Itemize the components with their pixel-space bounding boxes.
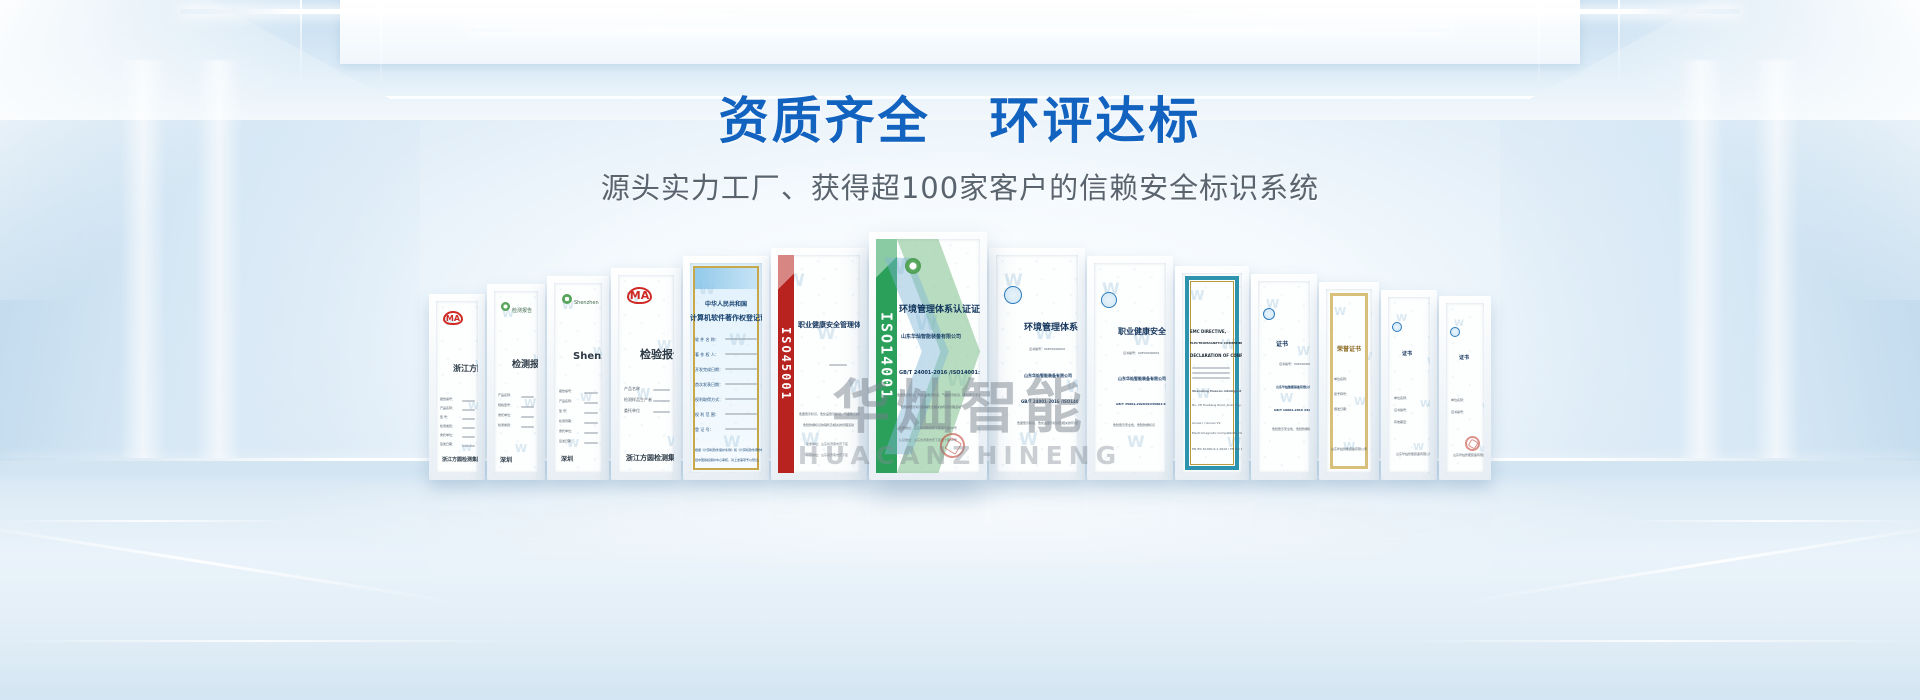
certificate-text-line	[725, 353, 757, 355]
certificate-text: 浙江方圆检测	[453, 363, 478, 374]
certificate-text: Annex I / Annex VII	[1192, 421, 1220, 425]
certificate-text: 职业健康安全管理体系认证证书	[1118, 326, 1166, 337]
certificate-text: 荣誉证书	[1326, 344, 1372, 353]
ceiling-vane	[1538, 0, 1540, 86]
cma-badge-icon: MA	[627, 287, 652, 304]
certificate-text: 单位名称：	[1334, 377, 1349, 381]
certificate-frame[interactable]: WWWWISO14001环境管理体系认证证书山东华灿智能装备有限公司GB/T 2…	[869, 232, 987, 480]
headline-part-2: 环评达标	[989, 92, 1201, 150]
certificate-text-line	[462, 445, 475, 447]
watermark-w-glyph: W	[1164, 381, 1166, 400]
certificate-text: 检测报告	[512, 307, 532, 314]
certificate-text: 危险警示安全色、危险防爆标识	[1113, 423, 1155, 427]
certificate-text-line	[1192, 377, 1230, 379]
certificate-text-line	[462, 418, 475, 420]
headline-part-1: 资质齐全	[719, 92, 931, 150]
certificate-text: 开发完成日期：	[695, 367, 723, 373]
certificate-sheet: WWWW职业健康安全管理体系认证证书证书编号：00EX0000000山东华灿智能…	[1094, 263, 1166, 473]
certificate-text: Shenzhen	[574, 300, 599, 306]
certificate-text: 危废警示标识、危化品警示标识及相关的环境管理活动	[1017, 421, 1078, 425]
certificate-frame[interactable]: WWWW证书单位名称：证书编号：有效期至：山东华灿智能装备有限公司	[1381, 290, 1437, 480]
certificate-text: 山东华灿智能装备有限公司	[1453, 453, 1484, 457]
certificate-text: 型 号：	[440, 415, 450, 419]
certificate-text: 委托单位：	[559, 429, 574, 433]
certificate-text: 产品名称	[624, 386, 640, 392]
certificate-text-line	[725, 368, 757, 370]
certificate-sheet: WWWWISO14001环境管理体系认证证书山东华灿智能装备有限公司GB/T 2…	[876, 239, 980, 473]
certificate-frame[interactable]: WWWWMA浙江方圆检测报告编号：产品名称：型 号：检测类别：委托单位：签发日期…	[429, 294, 485, 480]
watermark-w-glyph: W	[1127, 432, 1145, 451]
ceiling-light-strip-left	[180, 9, 740, 14]
watermark-w-glyph: W	[1280, 391, 1293, 405]
certificate-frame[interactable]: WWWW中华人民共和国计算机软件著作权登记证书软 件 名 称：著 作 权 人：开…	[683, 256, 769, 480]
certificate-text: 危险防爆标识的销售及相关的管理活动	[803, 423, 854, 427]
floor-reflection-streak	[0, 640, 520, 642]
watermark-w-glyph: W	[667, 435, 674, 450]
certificate-text-line	[584, 402, 598, 404]
certificate-text: No. 28 Huabang Road, Jinan City, Shandon…	[1192, 403, 1242, 407]
certificate-text: 登 记 号：	[695, 427, 714, 433]
certificate-text: 委托单位：	[440, 433, 455, 437]
certification-body-logo	[1392, 322, 1402, 332]
certificate-text-line	[521, 416, 534, 418]
watermark-w-glyph: W	[515, 442, 527, 455]
certificate-sheet: WWWW证书证书编号：00EX0000000山东华灿智能装备有限公司GB/T 1…	[1258, 281, 1310, 473]
watermark-w-glyph: W	[848, 377, 860, 397]
certificate-text: 权 利 范 围：	[695, 412, 719, 418]
floor-reflection-streak	[0, 520, 300, 522]
certificate-sheet: WWWW检测报告检测报告产品名称：规格型号：委托单位：检测类别：深圳	[494, 291, 538, 473]
certificate-frame[interactable]: WWWW职业健康安全管理体系认证证书证书编号：00EX0000000山东华灿智能…	[1087, 256, 1173, 480]
certificate-text: ELECTROMAGNETIC COMPATIBILITY DIRECTIVE	[1190, 341, 1242, 345]
ceiling-vane	[380, 0, 382, 86]
ceiling-vane	[300, 0, 302, 86]
watermark-w-glyph: W	[977, 423, 980, 447]
certificate-text: 浙江方圆检测集团股份有限公司	[442, 456, 478, 463]
certificate-text: 证书编号：00EX0000000	[1279, 362, 1310, 366]
certificate-frame[interactable]: WWWWMA检验报告产品名称检测样品生产者委托单位浙江方圆检测集团股份有限公司	[611, 268, 681, 480]
certificate-text: 报告编号：	[440, 397, 455, 401]
headline-block: 资质齐全 环评达标 源头实力工厂、获得超100家客户的信赖安全标识系统	[0, 92, 1920, 207]
certificate-text-line	[584, 442, 598, 444]
certificate-text-line	[653, 411, 670, 413]
certificate-text: 软 件 名 称：	[695, 337, 719, 343]
certificate-text: EMC DIRECTIVE,	[1190, 329, 1226, 334]
lab-badge-icon	[501, 302, 510, 311]
certificate-text: 证书编号：00EX0000000	[1123, 351, 1159, 355]
certificate-side-band: ISO45001	[778, 255, 794, 473]
certificate-text: 检验报告	[640, 346, 674, 362]
certificate-text: 产品名称：	[559, 399, 574, 403]
certificate-text-line	[521, 406, 534, 408]
certificate-text: GB/T 24001-2016 /ISO14001:2015	[1021, 399, 1078, 404]
certificate-sheet: WWWWISO45001职业健康安全管理体系认证证书危废警示标识、危化品警示标识…	[778, 255, 860, 473]
floor-reflection-streak	[1620, 520, 1920, 522]
certificate-text: 单位名称：	[1451, 398, 1466, 402]
certificate-text: GB/T 45001-2020/ISO45001:2018	[1116, 402, 1166, 406]
certificate-frame[interactable]: WWWW荣誉证书单位名称：授予称号：颁发日期：山东华灿智能装备有限公司	[1319, 282, 1379, 480]
certificate-frame[interactable]: WWWWShenzhenShenzhen报告编号：产品名称：型 号：检测周期：委…	[547, 276, 609, 480]
certificate-text: 职业健康安全管理体系认证证书	[798, 320, 860, 330]
watermark-w-glyph: W	[1427, 356, 1430, 367]
certificate-text: 深圳	[561, 454, 573, 463]
watermark-w-glyph: W	[1482, 403, 1484, 413]
watermark-w-glyph: W	[760, 381, 762, 400]
certificate-text-line	[653, 389, 670, 391]
certificate-sheet: WWWW证书单位名称：证书编号：山东华灿智能装备有限公司	[1446, 303, 1484, 473]
certificate-sheet: WWWW环境管理体系认证证书证书编号：00EX0000000山东华灿智能装备有限…	[996, 255, 1078, 473]
certificate-text: 注册地址：山东省济南市历下区经十路88号	[899, 426, 957, 430]
certificate-sheet: WWWWShenzhenShenzhen报告编号：产品名称：型 号：检测周期：委…	[554, 283, 602, 473]
certificate-text: 山东华灿智能装备有限公司	[1396, 452, 1430, 456]
certificate-text: 首次发表日期：	[695, 382, 723, 388]
certificate-text: 证书编号：00EX0000000	[1029, 347, 1065, 351]
certificate-text: 证书	[1459, 354, 1469, 361]
certificate-text-line	[725, 413, 757, 415]
certification-body-logo	[1263, 308, 1275, 320]
certificate-sheet: WWWWEMC DIRECTIVE,ELECTROMAGNETIC COMPAT…	[1182, 273, 1242, 473]
certificate-text: 检测类别：	[440, 424, 455, 428]
certificate-text-line	[462, 400, 475, 402]
certificate-text: 环境管理体系认证证书	[1024, 320, 1078, 333]
certificate-text: Electromagnetic Compatibility Directive …	[1192, 431, 1242, 435]
certification-body-logo	[905, 258, 921, 274]
certificate-text: Shenzhen	[573, 351, 602, 362]
certificate-text: 单位名称：	[1394, 396, 1409, 400]
certificate-text-line	[462, 427, 475, 429]
certificate-text: 签发日期：	[440, 442, 455, 446]
certificate-standard-band-label: ISO45001	[779, 327, 793, 401]
certificate-text: 著 作 权 人：	[695, 352, 719, 358]
certificate-band-highlight	[778, 255, 794, 320]
certificate-text: 险防爆警示标识的销售及相关的环境管理活动	[901, 405, 961, 409]
certificate-text: 危废警示标识、危化品警示标识、气瓶警示标识、危险警示安全色、危	[897, 393, 980, 397]
certificate-text-line	[584, 392, 598, 394]
certificate-text: 签发日期：	[559, 439, 574, 443]
certificate-frame[interactable]: WWWWEMC DIRECTIVE,ELECTROMAGNETIC COMPAT…	[1175, 266, 1249, 480]
certificate-gold-border	[1330, 293, 1368, 469]
certificate-text: 型 号：	[559, 409, 569, 413]
certificate-text: 经中国版权保护中心审核，对上述事项予以登记。	[695, 458, 761, 462]
certificate-text: 检测报告	[512, 357, 538, 370]
certificate-text: 注册地址：山东省济南市历下区	[806, 442, 848, 446]
certificate-sheet: WWWW中华人民共和国计算机软件著作权登记证书软 件 名 称：著 作 权 人：开…	[690, 263, 762, 473]
certificate-standard-band-label: ISO14001	[877, 312, 895, 400]
certificate-text: GB/T 19001-2016 /ISO9001:2015	[1274, 408, 1310, 412]
certificate-text: 山东华灿智能装备有限公司	[1276, 385, 1310, 389]
certificate-band-highlight	[876, 239, 897, 309]
certificate-text: 授予称号：	[1334, 392, 1349, 396]
certificate-sheet: WWWW荣誉证书单位名称：授予称号：颁发日期：山东华灿智能装备有限公司	[1326, 289, 1372, 473]
certificate-text-line	[1192, 367, 1230, 369]
cma-badge-icon: MA	[443, 311, 463, 325]
watermark-w-glyph: W	[1066, 377, 1078, 397]
certification-banner: 资质齐全 环评达标 源头实力工厂、获得超100家客户的信赖安全标识系统 WWWW…	[0, 0, 1920, 700]
certificate-sheet: WWWWMA浙江方圆检测报告编号：产品名称：型 号：检测类别：委托单位：签发日期…	[436, 301, 478, 473]
certificate-sheet: WWWW证书单位名称：证书编号：有效期至：山东华灿智能装备有限公司	[1388, 297, 1430, 473]
certificate-text-line	[584, 412, 598, 414]
certificate-text: 深圳	[500, 455, 512, 464]
certificate-text: 检测类别：	[498, 423, 513, 427]
certificate-text: 认证地址：山东省济南市历下区	[806, 453, 848, 457]
certificate-text: 山东华灿智能装备有限公司	[1326, 447, 1372, 451]
watermark-w-glyph: W	[801, 430, 820, 450]
certification-body-logo	[1101, 292, 1117, 308]
certificate-text: 报告编号：	[559, 389, 574, 393]
certificate-frame[interactable]: WWWW证书单位名称：证书编号：山东华灿智能装备有限公司	[1439, 296, 1491, 480]
certificate-text-line	[725, 398, 757, 400]
certificate-text-line	[462, 436, 475, 438]
watermark-w-glyph: W	[524, 397, 536, 410]
certificate-text-line	[462, 409, 475, 411]
certificate-text: 根据《计算机软件保护条例》和《计算机软件著作权登记办法》的规定，	[695, 448, 762, 452]
certificate-text-line	[725, 383, 757, 385]
certificate-text: 委托单位：	[498, 413, 513, 417]
certificate-text: EN IEC 61000-6-1:2019 / EN IEC 61000-6-3…	[1192, 447, 1242, 451]
certificate-text-line	[829, 364, 847, 366]
certificate-text: 计算机软件著作权登记证书	[690, 313, 762, 323]
certificate-text-line	[1192, 372, 1230, 374]
certificate-text: 中华人民共和国	[690, 299, 762, 308]
ceiling-vane	[1618, 0, 1620, 86]
certificate-wall: WWWWMA浙江方圆检测报告编号：产品名称：型 号：检测类别：委托单位：签发日期…	[310, 232, 1610, 480]
certificate-frame[interactable]: WWWWISO45001职业健康安全管理体系认证证书危废警示标识、危化品警示标识…	[771, 248, 867, 480]
certificate-text: 有效期至：	[1394, 420, 1409, 424]
certificate-text-line	[584, 422, 598, 424]
certificate-text: 产品名称：	[440, 406, 455, 410]
certificate-frame[interactable]: WWWW环境管理体系认证证书证书编号：00EX0000000山东华灿智能装备有限…	[989, 248, 1085, 480]
certificate-frame[interactable]: WWWW证书证书编号：00EX0000000山东华灿智能装备有限公司GB/T 1…	[1251, 274, 1317, 480]
certificate-text: DECLARATION OF CONFORMITY	[1190, 353, 1242, 358]
certificate-sheet: WWWWMA检验报告产品名称检测样品生产者委托单位浙江方圆检测集团股份有限公司	[618, 275, 674, 473]
certificate-text: 环境管理体系认证证书	[899, 302, 980, 315]
certificate-frame[interactable]: WWWW检测报告检测报告产品名称：规格型号：委托单位：检测类别：深圳	[487, 284, 545, 480]
watermark-w-glyph: W	[1019, 430, 1038, 450]
certificate-text: 浙江方圆检测集团股份有限公司	[626, 453, 674, 463]
certificate-text: 产品名称：	[498, 393, 513, 397]
certificate-text: 委托单位	[624, 408, 640, 414]
certificate-text: 检测周期：	[559, 419, 574, 423]
page-title: 资质齐全 环评达标	[0, 92, 1920, 151]
certificate-text-line	[653, 400, 670, 402]
floor-reflection-streak	[1400, 640, 1920, 642]
certificate-text: 山东华灿智能装备有限公司	[1024, 373, 1072, 379]
certificate-text: 危险警示安全色、危险防爆标识的销售	[1272, 427, 1310, 431]
certificate-text-line	[584, 432, 598, 434]
certification-body-logo	[1004, 286, 1022, 304]
certificate-header-band	[695, 268, 757, 289]
ceiling-light-strip-center	[470, 28, 1450, 32]
certificate-text: Shandong Huacan Intelligent Equipment Co…	[1192, 389, 1242, 393]
certificate-text: 山东华灿智能装备有限公司	[1118, 376, 1166, 382]
certificate-text: 规格型号：	[498, 403, 513, 407]
certificate-text: 证书	[1276, 339, 1288, 348]
certificate-text: 权利取得方式：	[695, 397, 723, 403]
watermark-w-glyph: W	[1297, 344, 1310, 358]
certificate-side-band: ISO14001	[876, 239, 897, 473]
page-subtitle: 源头实力工厂、获得超100家客户的信赖安全标识系统	[0, 165, 1920, 207]
ceiling-light-strip-right	[1180, 9, 1740, 14]
certificate-text: 证书编号：	[1451, 410, 1466, 414]
certificate-text: 证书编号：	[1394, 408, 1409, 412]
certificate-text: 检测样品生产者	[624, 397, 652, 403]
certificate-text: 山东华灿智能装备有限公司	[901, 333, 961, 340]
certification-body-logo	[1450, 327, 1460, 337]
certificate-text-line	[725, 338, 757, 340]
certificate-text: 危废警示标识、危化品警示标识、气瓶警示标识、	[799, 412, 860, 416]
certificate-text-line	[521, 396, 534, 398]
certificate-text-line	[725, 428, 757, 430]
certificate-text: 颁发日期：	[1334, 407, 1349, 411]
lab-badge-icon	[562, 294, 572, 304]
certificate-text-line	[521, 426, 534, 428]
certificate-text: 证书	[1402, 350, 1412, 357]
certificate-text: GB/T 24001-2016 /ISO14001:2015	[899, 370, 980, 376]
watermark-w-glyph: W	[1420, 399, 1430, 410]
